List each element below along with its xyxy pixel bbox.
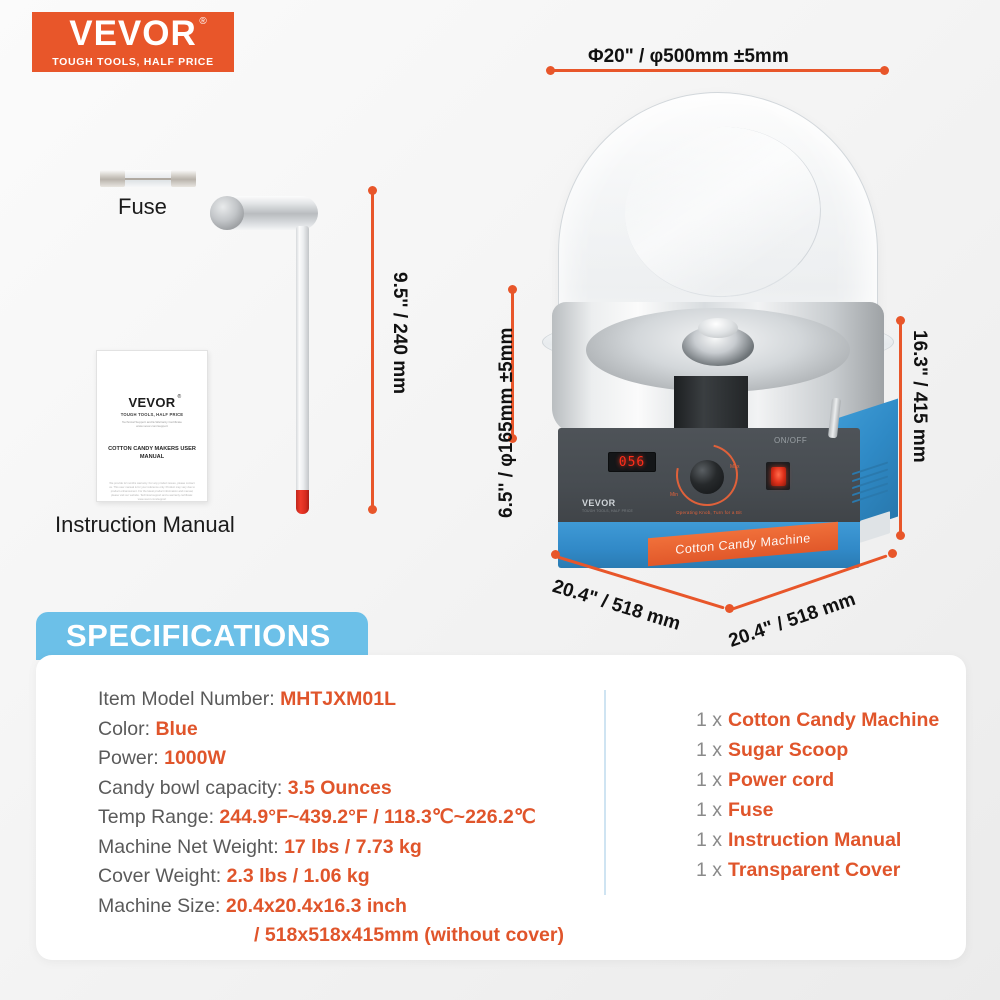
- manual-body-text: We provide 12 months warranty. For any p…: [108, 482, 196, 502]
- dim-label-scoop-length: 9.5'' / 240 mm: [388, 272, 410, 394]
- package-item-qty: 1 x: [696, 829, 722, 851]
- dim-dot-base-right: [888, 549, 897, 558]
- spec-row: Temp Range: 244.9°F~439.2°F / 118.3℃~226…: [98, 803, 564, 833]
- instruction-manual-label: Instruction Manual: [55, 512, 235, 538]
- package-item-name: Instruction Manual: [728, 829, 901, 851]
- package-item-name: Fuse: [728, 799, 774, 821]
- brand-tagline: TOUGH TOOLS, HALF PRICE: [52, 56, 214, 68]
- knob-caption: Operating Knob, Turn for a Bit: [666, 510, 752, 515]
- dim-dot-height-bottom: [896, 531, 905, 540]
- spec-value: 20.4x20.4x16.3 inch: [226, 895, 407, 917]
- machine-front-banner-text: Cotton Candy Machine: [675, 531, 810, 557]
- fuse-illustration: [100, 170, 196, 187]
- spec-value: 17 lbs / 7.73 kg: [284, 836, 422, 858]
- sugar-scoop-illustration: [210, 196, 330, 516]
- power-switch-label: ON/OFF: [774, 436, 807, 445]
- fuse-label: Fuse: [118, 194, 167, 220]
- spec-row: Cover Weight: 2.3 lbs / 1.06 kg: [98, 862, 564, 892]
- spec-row: Machine Net Weight: 17 lbs / 7.73 kg: [98, 833, 564, 863]
- dim-label-base-right: 20.4" / 518 mm: [726, 589, 859, 653]
- spec-row: Candy bowl capacity: 3.5 Ounces: [98, 774, 564, 804]
- package-item: 1 xFuse: [696, 795, 939, 825]
- manual-brand-name: VEVOR ®: [128, 395, 175, 410]
- spec-label: Machine Net Weight:: [98, 836, 284, 858]
- spec-row: Power: 1000W: [98, 744, 564, 774]
- package-item-name: Transparent Cover: [728, 859, 900, 881]
- registered-mark: ®: [199, 17, 207, 27]
- dim-label-dome-width: Φ20" / φ500mm ±5mm: [588, 46, 789, 68]
- dim-line-scoop: [371, 190, 374, 508]
- dome-highlight: [619, 120, 826, 303]
- manual-tagline: TOUGH TOOLS, HALF PRICE: [121, 412, 184, 417]
- temperature-display-value: 056: [619, 455, 645, 470]
- package-item-qty: 1 x: [696, 739, 722, 761]
- temperature-display: 056: [608, 452, 656, 472]
- spec-label: Item Model Number:: [98, 688, 280, 710]
- power-switch-indicator: [771, 467, 786, 486]
- manual-brand-text: VEVOR: [128, 395, 175, 410]
- fuse-cap-right: [171, 170, 196, 187]
- spec-value-continuation: / 518x518x415mm (without cover): [254, 921, 564, 951]
- scoop-shaft: [296, 226, 309, 498]
- package-item-name: Sugar Scoop: [728, 739, 848, 761]
- manual-subline: Technical Support and E-Warranty Certifi…: [106, 421, 198, 429]
- knob-max-label: Max: [730, 464, 739, 470]
- package-item: 1 xPower cord: [696, 765, 939, 795]
- panel-brand-tagline: TOUGH TOOLS, HALF PRICE: [582, 509, 633, 513]
- fuse-wire: [124, 178, 172, 180]
- spec-value: 3.5 Ounces: [288, 777, 392, 799]
- knob-min-label: Min: [670, 492, 678, 498]
- package-item-qty: 1 x: [696, 799, 722, 821]
- spec-value: 2.3 lbs / 1.06 kg: [227, 865, 370, 887]
- instruction-manual-illustration: VEVOR ® TOUGH TOOLS, HALF PRICE Technica…: [96, 350, 208, 502]
- scoop-head-cap: [210, 196, 244, 230]
- manual-title: COTTON CANDY MAKERS USER MANUAL: [97, 445, 207, 462]
- section-divider: [604, 690, 606, 895]
- package-contents-list: 1 xCotton Candy Machine 1 xSugar Scoop 1…: [696, 705, 939, 885]
- specifications-card: Item Model Number: MHTJXM01L Color: Blue…: [36, 655, 966, 960]
- dim-line-dome-width: [551, 69, 884, 72]
- fuse-glass-body: [100, 170, 196, 187]
- dim-label-base-left: 20.4" / 518 mm: [550, 576, 683, 636]
- brand-name: VEVOR ®: [69, 16, 197, 51]
- spec-row: Machine Size: 20.4x20.4x16.3 inch: [98, 892, 564, 922]
- power-switch[interactable]: [766, 462, 790, 490]
- specifications-header-tab: SPECIFICATIONS: [36, 612, 368, 660]
- spec-label: Machine Size:: [98, 895, 226, 917]
- package-item-qty: 1 x: [696, 709, 722, 731]
- package-item-name: Power cord: [728, 769, 834, 791]
- vevor-logo: VEVOR ® TOUGH TOOLS, HALF PRICE: [32, 12, 234, 72]
- package-item: 1 xTransparent Cover: [696, 855, 939, 885]
- brand-name-text: VEVOR: [69, 14, 197, 53]
- package-item: 1 xSugar Scoop: [696, 735, 939, 765]
- fuse-cap-left: [100, 170, 125, 187]
- dim-label-machine-height: 16.3" / 415 mm: [908, 330, 930, 463]
- specifications-header-text: SPECIFICATIONS: [66, 618, 331, 654]
- package-item-name: Cotton Candy Machine: [728, 709, 939, 731]
- dim-line-machine-height: [899, 320, 902, 534]
- spinner-head-top: [698, 318, 738, 338]
- spec-value: MHTJXM01L: [280, 688, 396, 710]
- package-item-qty: 1 x: [696, 769, 722, 791]
- spec-label: Cover Weight:: [98, 865, 227, 887]
- product-spec-infographic: VEVOR ® TOUGH TOOLS, HALF PRICE Fuse 9.5…: [0, 0, 1000, 1000]
- spec-value: Blue: [155, 718, 197, 740]
- spec-row: Item Model Number: MHTJXM01L: [98, 685, 564, 715]
- spec-label: Candy bowl capacity:: [98, 777, 288, 799]
- scoop-red-tip: [296, 490, 309, 514]
- dim-dot-dome-right: [880, 66, 889, 75]
- spec-value: 1000W: [164, 747, 226, 769]
- package-item: 1 xInstruction Manual: [696, 825, 939, 855]
- cotton-candy-machine-illustration: 056 Min Max Operating Knob, Turn for a B…: [530, 80, 910, 580]
- dim-dot-scoop-bottom: [368, 505, 377, 514]
- spec-value: 244.9°F~439.2°F / 118.3℃~226.2℃: [219, 806, 535, 828]
- package-item-qty: 1 x: [696, 859, 722, 881]
- spec-row: Color: Blue: [98, 715, 564, 745]
- spec-label: Temp Range:: [98, 806, 219, 828]
- package-item: 1 xCotton Candy Machine: [696, 705, 939, 735]
- spec-label: Color:: [98, 718, 155, 740]
- specifications-list: Item Model Number: MHTJXM01L Color: Blue…: [98, 685, 564, 951]
- control-knob[interactable]: [690, 460, 724, 494]
- panel-brand-logo: VEVOR: [582, 498, 616, 508]
- manual-registered-mark: ®: [178, 394, 182, 400]
- dim-label-bowl-depth: 6.5'' / φ165mm ±5mm: [496, 328, 518, 518]
- spec-label: Power:: [98, 747, 164, 769]
